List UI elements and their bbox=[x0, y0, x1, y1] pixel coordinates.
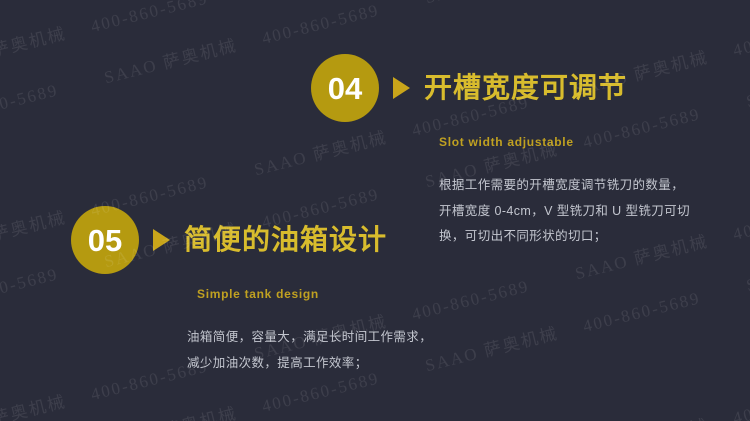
feature-header: 05 简便的油箱设计 bbox=[71, 206, 441, 274]
badge-circle-05: 05 bbox=[71, 206, 139, 274]
feature-heading-group: 开槽宽度可调节 bbox=[424, 73, 627, 104]
arrow-right-icon bbox=[393, 77, 410, 99]
feature-title-en: Slot width adjustable bbox=[439, 135, 693, 149]
feature-body-text: 油箱简便，容量大，满足长时间工作需求，减少加油次数，提高工作效率； bbox=[187, 325, 441, 376]
feature-title-cn: 简便的油箱设计 bbox=[184, 224, 387, 255]
feature-header: 04 开槽宽度可调节 bbox=[311, 54, 693, 122]
slide-content: 04 开槽宽度可调节 Slot width adjustable 根据工作需要的… bbox=[0, 0, 750, 421]
feature-title-cn: 开槽宽度可调节 bbox=[424, 72, 627, 103]
feature-item-05: 05 简便的油箱设计 Simple tank design 油箱简便，容量大，满… bbox=[71, 206, 441, 376]
badge-number: 04 bbox=[328, 73, 362, 104]
slide-canvas: SAAO 萨奥机械400-860-5689SAAO 萨奥机械400-860-56… bbox=[0, 0, 750, 421]
badge-circle-04: 04 bbox=[311, 54, 379, 122]
badge-number: 05 bbox=[88, 225, 122, 256]
arrow-right-icon bbox=[153, 229, 170, 251]
feature-heading-group: 简便的油箱设计 bbox=[184, 225, 387, 256]
feature-title-en: Simple tank design bbox=[197, 287, 441, 301]
feature-body-text: 根据工作需要的开槽宽度调节铣刀的数量，开槽宽度 0-4cm，V 型铣刀和 U 型… bbox=[439, 173, 693, 250]
